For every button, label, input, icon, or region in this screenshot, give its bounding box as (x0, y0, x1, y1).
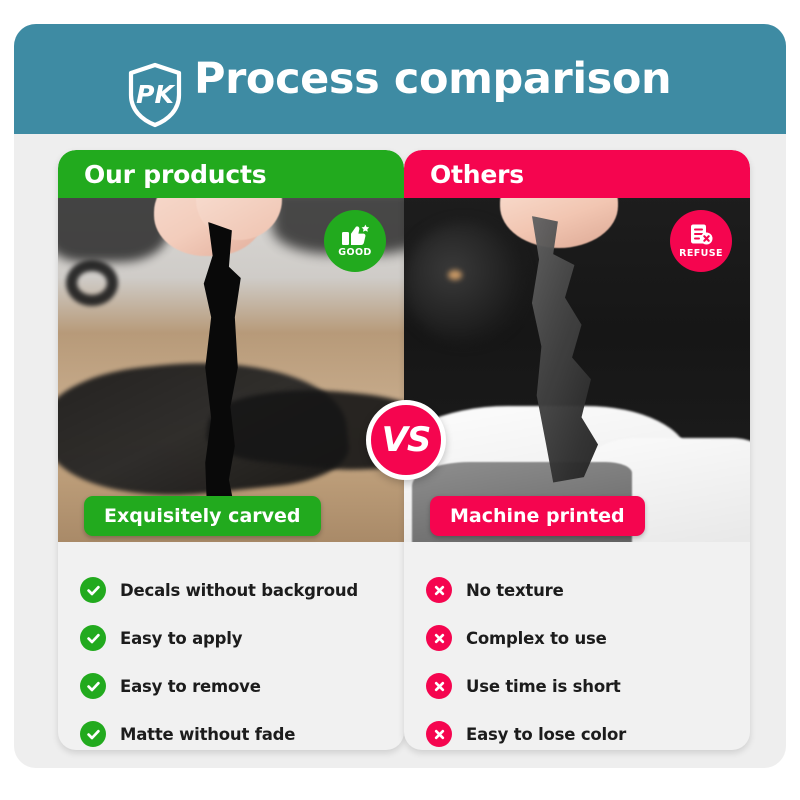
infographic-page: PK Process comparison Our products (0, 0, 800, 800)
cross-icon (426, 577, 452, 603)
vs-badge: VS (366, 400, 446, 480)
list-item: Use time is short (426, 662, 728, 710)
right-caption-pill: Machine printed (430, 496, 645, 536)
right-panel-title: Others (430, 160, 524, 189)
left-caption-text: Exquisitely carved (104, 505, 301, 527)
list-item-label: Easy to remove (120, 677, 261, 696)
photo-detail (404, 222, 524, 342)
cross-icon (426, 673, 452, 699)
left-product-photo: GOOD (58, 194, 404, 542)
list-item: Complex to use (426, 614, 728, 662)
list-item: Easy to remove (80, 662, 382, 710)
list-item-label: Use time is short (466, 677, 621, 696)
page-header: PK Process comparison (14, 24, 786, 134)
list-item-label: Easy to apply (120, 629, 242, 648)
check-icon (80, 673, 106, 699)
left-caption-pill: Exquisitely carved (84, 496, 321, 536)
left-panel-header: Our products (58, 150, 404, 198)
photo-detail (66, 260, 118, 306)
document-x-icon (688, 223, 714, 247)
vs-badge-label: VS (382, 420, 431, 460)
list-item: Decals without backgroud (80, 566, 382, 614)
good-badge: GOOD (324, 210, 386, 272)
photo-detail (500, 194, 618, 248)
left-panel-title: Our products (84, 160, 266, 189)
svg-text:PK: PK (136, 80, 175, 109)
thumbs-up-icon (340, 224, 370, 246)
photo-detail (58, 194, 168, 262)
photo-detail (448, 270, 462, 280)
check-icon (80, 721, 106, 747)
refuse-badge-label: REFUSE (679, 248, 723, 259)
cross-icon (426, 625, 452, 651)
list-item: No texture (426, 566, 728, 614)
right-panel-header: Others (404, 150, 750, 198)
good-badge-label: GOOD (338, 247, 371, 258)
left-panel-card[interactable]: Our products (58, 150, 404, 750)
check-icon (80, 625, 106, 651)
list-item-label: No texture (466, 581, 564, 600)
list-item-label: Decals without backgroud (120, 581, 358, 600)
refuse-badge: REFUSE (670, 210, 732, 272)
left-feature-list: Decals without backgroud Easy to apply (58, 552, 404, 750)
shield-icon: PK (126, 62, 184, 128)
comparison-area: Our products (14, 134, 786, 768)
right-caption-text: Machine printed (450, 505, 625, 527)
list-item: Easy to lose color (426, 710, 728, 750)
right-panel-card[interactable]: Others (404, 150, 750, 750)
right-feature-list: No texture Complex to use (404, 552, 750, 750)
right-product-photo: REFUSE (404, 194, 750, 542)
list-item-label: Easy to lose color (466, 725, 626, 744)
cross-icon (426, 721, 452, 747)
list-item: Easy to apply (80, 614, 382, 662)
page-title: Process comparison (194, 54, 671, 104)
list-item-label: Matte without fade (120, 725, 295, 744)
list-item: Matte without fade (80, 710, 382, 750)
list-item-label: Complex to use (466, 629, 607, 648)
check-icon (80, 577, 106, 603)
